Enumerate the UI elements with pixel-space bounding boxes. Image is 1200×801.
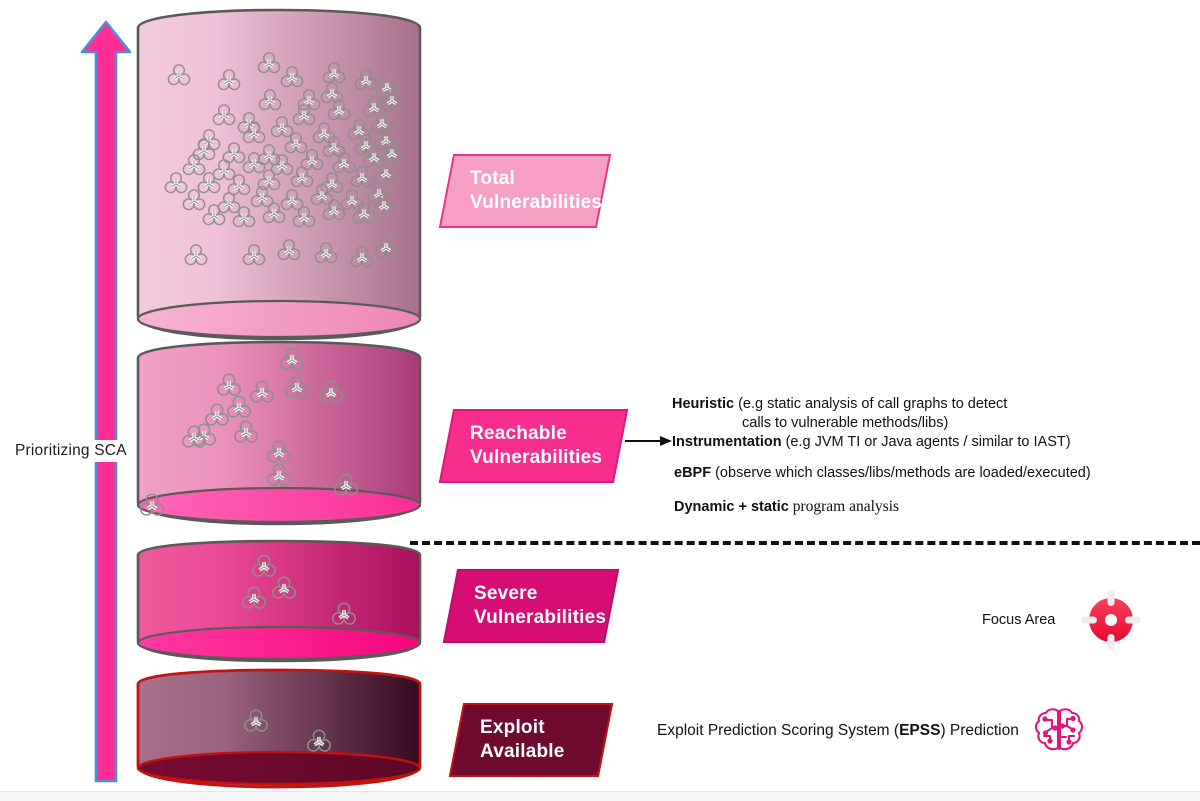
focus-area-label: Focus Area <box>982 612 1055 628</box>
annotation-instrumentation-rest: (e.g JVM TI or Java agents / similar to … <box>782 434 1071 450</box>
label-severe-vulnerabilities[interactable]: Severe Vulnerabilities <box>443 569 619 643</box>
annotation-ebpf-bold: eBPF <box>674 465 711 481</box>
layer-cylinder-total <box>134 6 424 351</box>
label-total-vulnerabilities[interactable]: Total Vulnerabilities <box>439 154 611 228</box>
annotation-heuristic-line2: calls to vulnerable methods/libs) <box>672 414 948 433</box>
layer-cylinder-severe <box>134 537 424 669</box>
annotation-heuristic: Heuristic (e.g static analysis of call g… <box>672 395 1172 433</box>
label-exploit-text: Exploit Available <box>480 716 565 764</box>
epss-label: Exploit Prediction Scoring System (EPSS)… <box>657 722 1019 740</box>
layer-cylinder-reachable <box>134 338 424 534</box>
epss-group: Exploit Prediction Scoring System (EPSS)… <box>657 706 1085 756</box>
label-exploit-available[interactable]: Exploit Available <box>449 703 613 777</box>
priority-axis-label: Prioritizing SCA <box>12 440 130 462</box>
priority-arrow-icon <box>78 18 134 783</box>
annotation-heuristic-rest: (e.g static analysis of call graphs to d… <box>734 396 1007 412</box>
annotation-heuristic-bold: Heuristic <box>672 396 734 412</box>
label-severe-text: Severe Vulnerabilities <box>474 582 606 630</box>
annotation-ebpf-rest: (observe which classes/libs/methods are … <box>711 465 1091 481</box>
epss-text-after: ) Prediction <box>940 722 1018 739</box>
label-total-text: Total Vulnerabilities <box>470 167 602 215</box>
annotation-dynamic-static: Dynamic + static program analysis <box>674 497 1174 517</box>
annotation-instrumentation: Instrumentation (e.g JVM TI or Java agen… <box>672 433 1172 452</box>
epss-text-before: Exploit Prediction Scoring System ( <box>657 722 899 739</box>
annotation-ebpf: eBPF (observe which classes/libs/methods… <box>674 464 1174 483</box>
bottom-border <box>0 791 1200 801</box>
annotation-dynamic-static-bold: Dynamic + static <box>674 499 789 515</box>
annotation-instrumentation-bold: Instrumentation <box>672 434 782 450</box>
focus-area-group: Focus Area <box>982 588 1143 652</box>
diagram-canvas: Prioritizing SCA <box>0 0 1200 801</box>
annotation-dynamic-static-rest: program analysis <box>789 498 899 515</box>
priority-arrow <box>78 18 134 783</box>
layer-cylinder-exploit <box>134 666 424 794</box>
label-reachable-text: Reachable Vulnerabilities <box>470 422 602 470</box>
brain-circuit-icon <box>1033 706 1085 756</box>
reachable-methods-arrow-icon <box>625 431 673 456</box>
epss-bold: EPSS <box>899 722 940 739</box>
focus-area-divider <box>410 541 1200 545</box>
target-crosshair-icon <box>1079 588 1143 652</box>
label-reachable-vulnerabilities[interactable]: Reachable Vulnerabilities <box>439 409 628 483</box>
